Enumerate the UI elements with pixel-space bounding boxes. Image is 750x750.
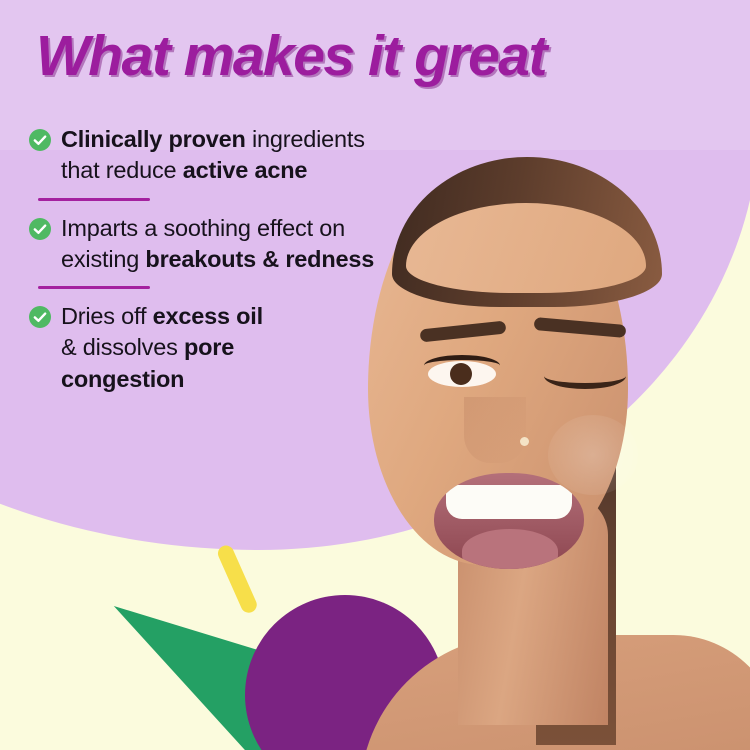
check-circle-icon bbox=[28, 305, 52, 329]
check-circle-icon bbox=[28, 217, 52, 241]
benefit-divider bbox=[38, 286, 150, 289]
benefit-text: Imparts a soothing effect onexisting bre… bbox=[61, 213, 374, 276]
benefit-text-line: & dissolves pore bbox=[61, 332, 263, 363]
benefit-text-plain: that reduce bbox=[61, 157, 183, 183]
page-title: What makes it great bbox=[36, 27, 546, 87]
benefits-list: Clinically proven ingredientsthat reduce… bbox=[28, 124, 448, 395]
benefit-text-line: Imparts a soothing effect on bbox=[61, 213, 374, 244]
benefit-text-line: congestion bbox=[61, 364, 263, 395]
benefit-text-emphasis: congestion bbox=[61, 366, 184, 392]
benefit-text-emphasis: Clinically proven bbox=[61, 126, 246, 152]
benefit-text-line: existing breakouts & redness bbox=[61, 244, 374, 275]
benefit-item: Dries off excess oil& dissolves porecong… bbox=[28, 301, 448, 395]
benefit-text: Dries off excess oil& dissolves porecong… bbox=[61, 301, 263, 395]
benefit-text-emphasis: breakouts & redness bbox=[145, 246, 374, 272]
benefit-text-line: that reduce active acne bbox=[61, 155, 365, 186]
benefit-text-plain: ingredients bbox=[246, 126, 365, 152]
benefit-row: Clinically proven ingredientsthat reduce… bbox=[28, 124, 448, 187]
benefit-text-emphasis: pore bbox=[184, 334, 234, 360]
poster-content: What makes it great Clinically proven in… bbox=[0, 0, 750, 750]
benefit-item: Imparts a soothing effect onexisting bre… bbox=[28, 213, 448, 290]
benefit-divider bbox=[38, 198, 150, 201]
check-circle-icon bbox=[28, 128, 52, 152]
benefit-text-plain: Dries off bbox=[61, 303, 153, 329]
promo-poster: What makes it great Clinically proven in… bbox=[0, 0, 750, 750]
benefit-item: Clinically proven ingredientsthat reduce… bbox=[28, 124, 448, 201]
benefit-text-line: Dries off excess oil bbox=[61, 301, 263, 332]
benefit-text: Clinically proven ingredientsthat reduce… bbox=[61, 124, 365, 187]
benefit-text-plain: Imparts a soothing effect on bbox=[61, 215, 345, 241]
benefit-text-emphasis: excess oil bbox=[153, 303, 263, 329]
benefit-text-plain: existing bbox=[61, 246, 145, 272]
benefit-row: Imparts a soothing effect onexisting bre… bbox=[28, 213, 448, 276]
benefit-text-emphasis: active acne bbox=[183, 157, 308, 183]
benefit-row: Dries off excess oil& dissolves porecong… bbox=[28, 301, 448, 395]
benefit-text-plain: & dissolves bbox=[61, 334, 184, 360]
benefit-text-line: Clinically proven ingredients bbox=[61, 124, 365, 155]
